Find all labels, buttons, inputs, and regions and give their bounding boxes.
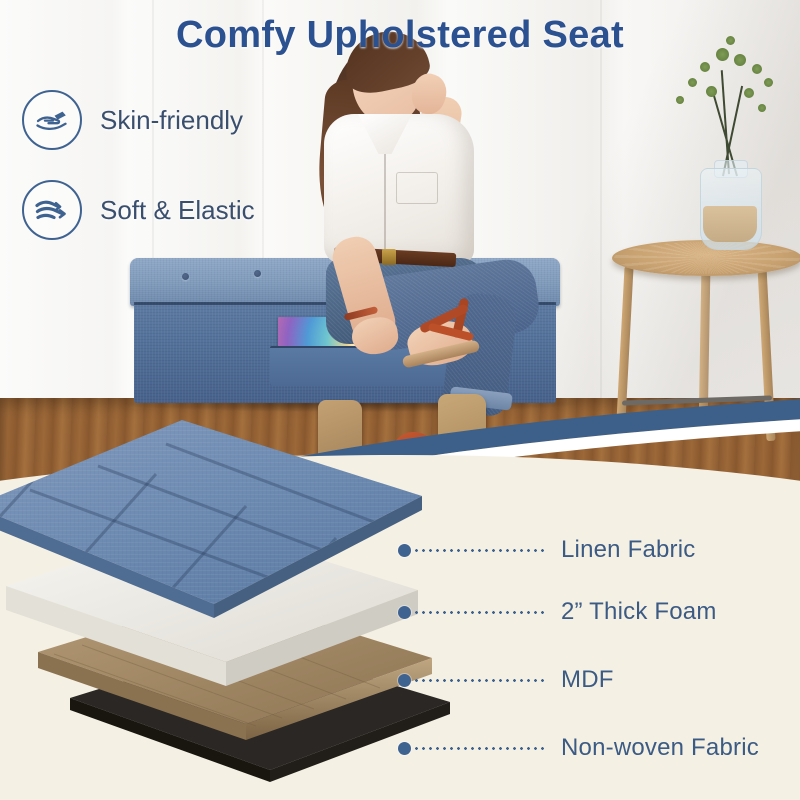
leader-line [413, 747, 545, 750]
elastic-waves-icon [22, 180, 82, 240]
hand-holding-cloth-icon [22, 90, 82, 150]
callout-linen-fabric: Linen Fabric [398, 536, 695, 564]
page-title: Comfy Upholstered Seat [0, 14, 800, 57]
callout-dot [398, 742, 411, 755]
feature-skin-friendly: Skin-friendly [22, 90, 243, 150]
callout-label: Linen Fabric [561, 536, 695, 564]
callout-dot [398, 544, 411, 557]
callout-dot [398, 606, 411, 619]
callout-non-woven-fabric: Non-woven Fabric [398, 734, 759, 762]
callout-label: MDF [561, 666, 614, 694]
feature-label: Soft & Elastic [100, 195, 255, 226]
leader-line [413, 549, 545, 552]
feature-label: Skin-friendly [100, 105, 243, 136]
product-feature-poster: Linen Fabric 2” Thick Foam MDF Non-woven… [0, 0, 800, 800]
model-woman [300, 22, 550, 417]
callout-dot [398, 674, 411, 687]
callout-thick-foam: 2” Thick Foam [398, 598, 717, 626]
layer-linen-icon [0, 418, 440, 638]
feature-soft-elastic: Soft & Elastic [22, 180, 255, 240]
callout-label: Non-woven Fabric [561, 734, 759, 762]
leader-line [413, 679, 545, 682]
callout-mdf: MDF [398, 666, 614, 694]
callout-label: 2” Thick Foam [561, 598, 717, 626]
vase-water [703, 206, 757, 242]
leader-line [413, 611, 545, 614]
belt-buckle [382, 249, 396, 265]
